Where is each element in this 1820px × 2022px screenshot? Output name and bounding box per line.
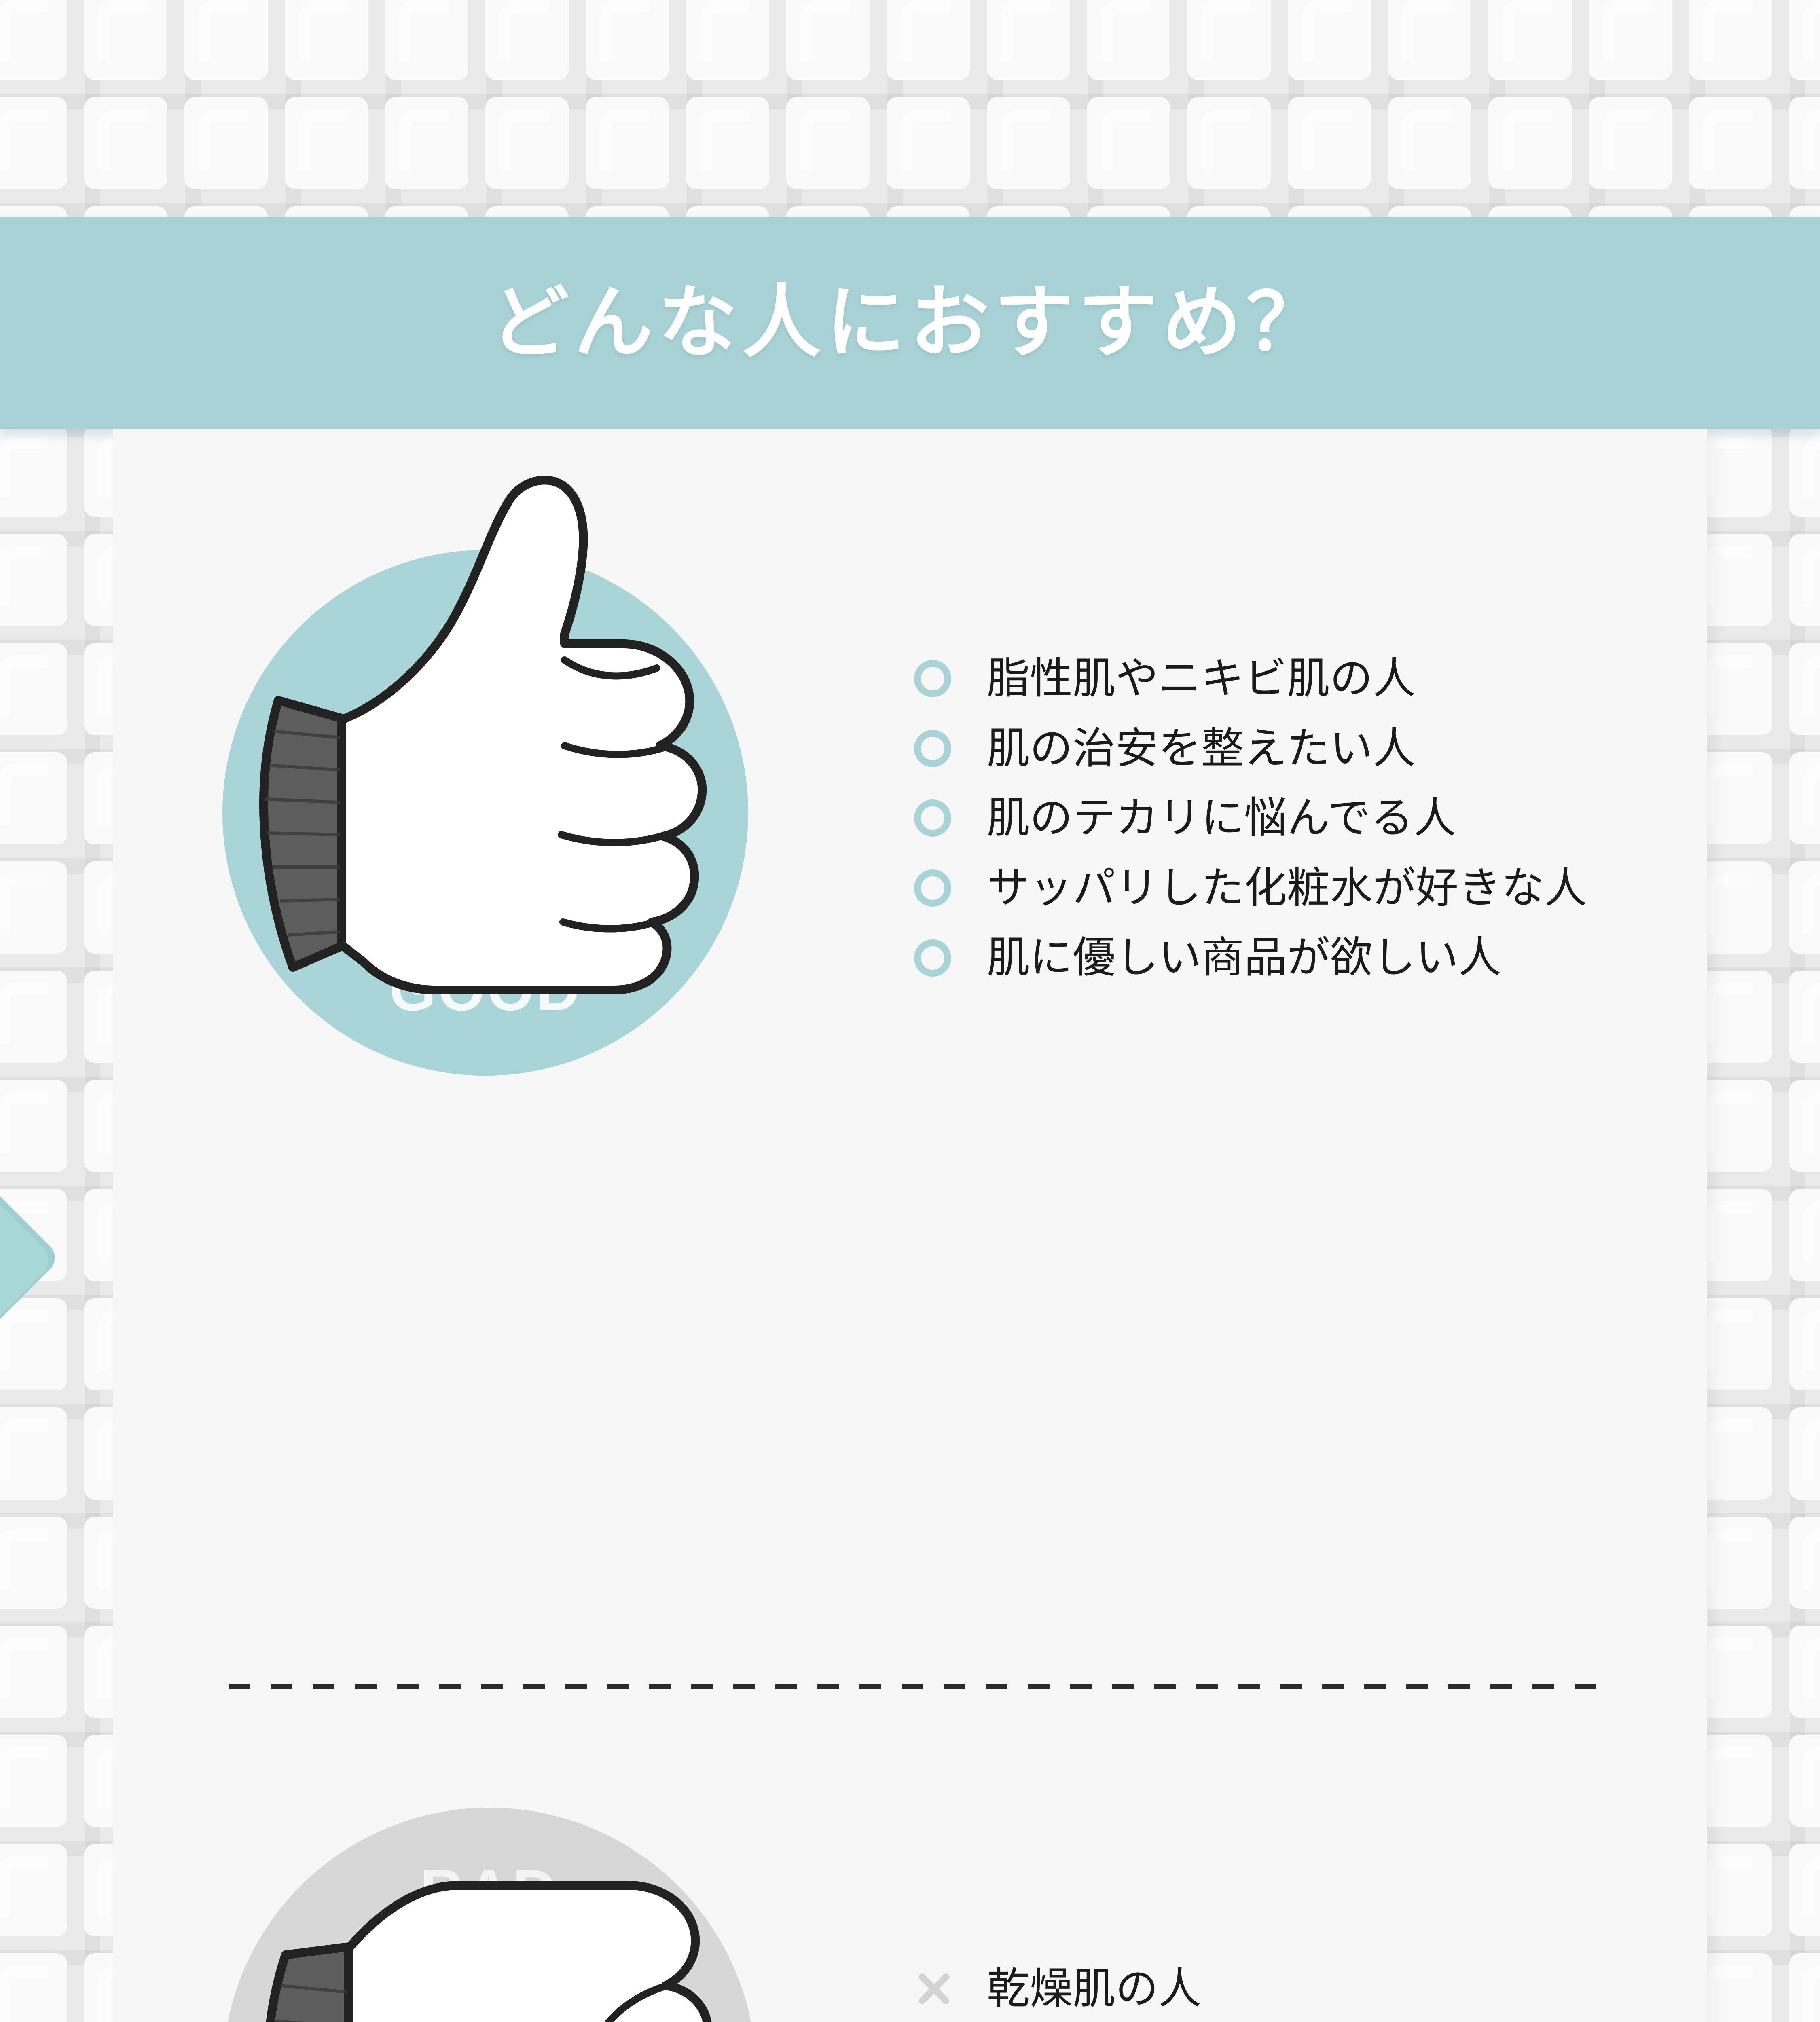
- background-tile: [1789, 1516, 1820, 1609]
- background-tile: [1187, 97, 1271, 189]
- bad-item-label: 乾燥肌の人: [987, 1965, 1201, 2013]
- good-item-label: 肌のテカリに悩んでる人: [987, 795, 1456, 842]
- background-tile: [1789, 1189, 1820, 1281]
- background-tile: [887, 0, 970, 80]
- background-tile: [485, 0, 569, 80]
- background-tile: [1789, 752, 1820, 844]
- background-tile: [0, 1844, 67, 1936]
- background-tile: [84, 97, 167, 189]
- background-tile: [1789, 425, 1820, 517]
- x-mark-icon: [914, 1969, 953, 2008]
- circle-bullet-icon: [914, 730, 951, 767]
- background-tile: [184, 97, 268, 189]
- background-tile: [0, 1735, 67, 1827]
- bad-list: 乾燥肌の人 保湿力のある化粧水が欲しい人: [914, 1965, 1674, 2022]
- background-tile: [1789, 643, 1820, 735]
- background-tile: [987, 0, 1070, 80]
- list-item: 乾燥肌の人: [914, 1965, 1674, 2013]
- background-tile: [84, 0, 167, 80]
- background-tile: [1388, 97, 1471, 189]
- background-tile: [1689, 0, 1772, 80]
- background-tile: [0, 0, 67, 80]
- background-tile: [1789, 0, 1820, 80]
- list-item: サッパリした化粧水が好きな人: [914, 865, 1674, 912]
- good-item-label: 肌に優しい商品が欲しい人: [987, 934, 1501, 981]
- background-tile: [1789, 1407, 1820, 1500]
- background-tile: [1789, 1626, 1820, 1718]
- circle-bullet-icon: [914, 660, 951, 697]
- background-tile: [0, 1080, 67, 1172]
- list-item: 脂性肌やニキビ肌の人: [914, 655, 1674, 702]
- background-tile: [1689, 97, 1772, 189]
- background-tile: [0, 1626, 67, 1718]
- page-title: どんな人におすすめ？: [490, 283, 1330, 362]
- background-tile: [0, 97, 67, 189]
- good-item-label: 肌の治安を整えたい人: [987, 725, 1416, 772]
- chevron-decoration: [0, 1189, 101, 1363]
- background-tile: [0, 534, 67, 626]
- content-card: GOOD 脂性肌やニキビ肌: [113, 429, 1707, 2022]
- background-tile: [887, 97, 970, 189]
- background-tile: [0, 1953, 67, 2022]
- good-item-label: 脂性肌やニキビ肌の人: [987, 655, 1416, 702]
- background-tile: [385, 0, 468, 80]
- background-tile: [1488, 0, 1572, 80]
- circle-bullet-icon: [914, 869, 951, 907]
- header-banner: どんな人におすすめ？: [0, 217, 1820, 429]
- background-tile: [1789, 861, 1820, 954]
- list-item: 肌に優しい商品が欲しい人: [914, 934, 1674, 981]
- good-list: 脂性肌やニキビ肌の人 肌の治安を整えたい人 肌のテカリに悩んでる人 サッパリした…: [914, 655, 1674, 1004]
- background-tile: [1488, 97, 1572, 189]
- good-item-label: サッパリした化粧水が好きな人: [987, 865, 1587, 912]
- background-tile: [1087, 0, 1170, 80]
- background-tile: [0, 425, 67, 517]
- background-tile: [0, 752, 67, 844]
- background-tile: [1789, 1080, 1820, 1172]
- background-tile: [1789, 1735, 1820, 1827]
- background-tile: [0, 643, 67, 735]
- circle-bullet-icon: [914, 939, 951, 977]
- background-tile: [184, 0, 268, 80]
- background-tile: [686, 97, 769, 189]
- background-tile: [1789, 1844, 1820, 1936]
- background-tile: [0, 861, 67, 954]
- background-tile: [586, 97, 669, 189]
- bad-section: BAD: [113, 1359, 1707, 2022]
- background-tile: [1087, 97, 1170, 189]
- background-tile: [987, 97, 1070, 189]
- background-tile: [1589, 97, 1672, 189]
- background-tile: [1789, 1298, 1820, 1390]
- circle-bullet-icon: [914, 799, 951, 837]
- background-tile: [1789, 97, 1820, 189]
- background-tile: [1789, 971, 1820, 1063]
- list-item: 肌の治安を整えたい人: [914, 725, 1674, 772]
- background-tile: [285, 0, 368, 80]
- background-tile: [1288, 97, 1371, 189]
- background-tile: [285, 97, 368, 189]
- background-tile: [1288, 0, 1371, 80]
- background-tile: [0, 1407, 67, 1500]
- thumbs-up-icon: [243, 461, 777, 1003]
- background-tile: [786, 0, 870, 80]
- background-tile: [1789, 1953, 1820, 2022]
- background-tile: [0, 1516, 67, 1609]
- background-tile: [1388, 0, 1471, 80]
- background-tile: [1789, 534, 1820, 626]
- list-item: 肌のテカリに悩んでる人: [914, 795, 1674, 842]
- background-tile: [1589, 0, 1672, 80]
- good-section: GOOD 脂性肌やニキビ肌: [113, 429, 1707, 1189]
- background-tile: [1187, 0, 1271, 80]
- thumbs-down-icon: [243, 1880, 785, 2022]
- background-tile: [686, 0, 769, 80]
- background-tile: [786, 97, 870, 189]
- background-tile: [586, 0, 669, 80]
- background-tile: [485, 97, 569, 189]
- background-tile: [385, 97, 468, 189]
- background-tile: [0, 971, 67, 1063]
